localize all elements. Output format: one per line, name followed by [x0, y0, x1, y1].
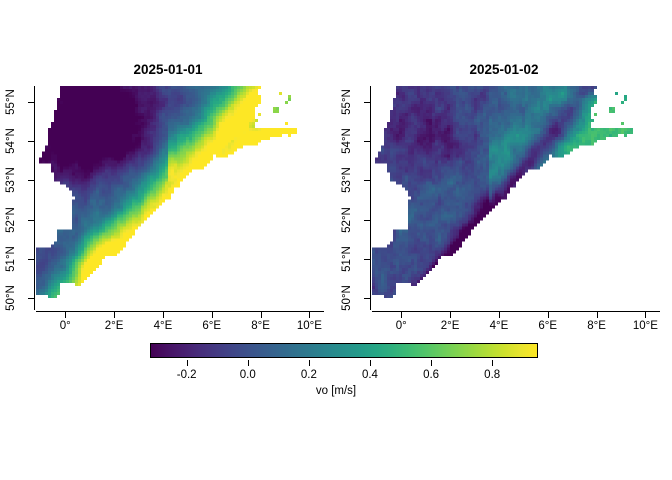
x-axis-right: [372, 311, 660, 312]
x-tick-right-1: [450, 312, 451, 318]
y-tick-label-right-2: 53°N: [332, 174, 362, 186]
colorbar-tick-5: [492, 360, 493, 366]
colorbar-tick-1: [248, 360, 249, 366]
y-tick-left-1: [28, 141, 34, 142]
y-tick-right-0: [364, 102, 370, 103]
colorbar-tick-label-1: 0.0: [240, 369, 256, 381]
x-tick-label-right-5: 10°E: [633, 320, 658, 332]
y-tick-left-4: [28, 259, 34, 260]
map-panel-right: 2025-01-02 55°N54°N53°N52°N51°N50°N0°2°E…: [336, 60, 672, 320]
y-axis-left: [34, 86, 35, 310]
x-tick-label-left-3: 6°E: [202, 320, 221, 332]
y-tick-label-left-1: 54°N: [0, 135, 26, 147]
y-tick-right-1: [364, 141, 370, 142]
y-tick-label-left-5: 50°N: [0, 292, 26, 304]
map-panel-left: 2025-01-01 55°N54°N53°N52°N51°N50°N0°2°E…: [0, 60, 336, 320]
x-axis-left: [36, 311, 324, 312]
x-tick-left-3: [212, 312, 213, 318]
colorbar-tick-label-3: 0.4: [362, 369, 378, 381]
x-tick-label-right-0: 0°: [396, 320, 407, 332]
heatmap-right: [372, 86, 660, 310]
y-tick-label-left-4: 51°N: [0, 253, 26, 265]
y-tick-label-right-0: 55°N: [332, 96, 362, 108]
x-tick-left-5: [309, 312, 310, 318]
panel-title-right: 2025-01-02: [336, 62, 672, 78]
y-tick-right-5: [364, 298, 370, 299]
x-tick-label-left-5: 10°E: [297, 320, 322, 332]
x-tick-right-2: [499, 312, 500, 318]
y-tick-right-3: [364, 220, 370, 221]
y-tick-label-right-4: 51°N: [332, 253, 362, 265]
x-tick-label-right-4: 8°E: [587, 320, 606, 332]
colorbar: -0.20.00.20.40.60.8 vo [m/s]: [0, 338, 672, 408]
y-tick-right-2: [364, 180, 370, 181]
y-tick-left-3: [28, 220, 34, 221]
x-tick-label-right-3: 6°E: [538, 320, 557, 332]
y-tick-left-5: [28, 298, 34, 299]
x-tick-right-0: [401, 312, 402, 318]
y-tick-left-2: [28, 180, 34, 181]
colorbar-tick-0: [187, 360, 188, 366]
y-tick-left-0: [28, 102, 34, 103]
y-tick-label-right-5: 50°N: [332, 292, 362, 304]
figure-canvas: 2025-01-01 55°N54°N53°N52°N51°N50°N0°2°E…: [0, 0, 672, 480]
colorbar-tick-label-2: 0.2: [301, 369, 317, 381]
colorbar-tick-label-4: 0.6: [423, 369, 439, 381]
x-tick-right-5: [645, 312, 646, 318]
y-tick-label-left-3: 52°N: [0, 214, 26, 226]
colorbar-tick-2: [309, 360, 310, 366]
x-tick-label-left-0: 0°: [60, 320, 71, 332]
plot-region-right: [372, 86, 660, 310]
x-tick-label-left-2: 4°E: [154, 320, 173, 332]
x-tick-left-2: [163, 312, 164, 318]
colorbar-gradient-fill: [151, 344, 537, 357]
panel-title-left: 2025-01-01: [0, 62, 336, 78]
colorbar-tick-3: [370, 360, 371, 366]
y-tick-label-left-2: 53°N: [0, 174, 26, 186]
colorbar-gradient: [150, 343, 538, 358]
y-tick-label-right-1: 54°N: [332, 135, 362, 147]
colorbar-tick-label-0: -0.2: [177, 369, 197, 381]
x-tick-label-right-2: 4°E: [490, 320, 509, 332]
x-tick-label-left-4: 8°E: [251, 320, 270, 332]
x-tick-label-left-1: 2°E: [105, 320, 124, 332]
y-axis-right: [370, 86, 371, 310]
x-tick-left-0: [65, 312, 66, 318]
heatmap-left: [36, 86, 324, 310]
y-tick-label-left-0: 55°N: [0, 96, 26, 108]
y-tick-label-right-3: 52°N: [332, 214, 362, 226]
x-tick-left-4: [261, 312, 262, 318]
x-tick-right-3: [548, 312, 549, 318]
colorbar-axis-label: vo [m/s]: [0, 385, 672, 397]
x-tick-left-1: [114, 312, 115, 318]
colorbar-tick-label-5: 0.8: [484, 369, 500, 381]
y-tick-right-4: [364, 259, 370, 260]
plot-region-left: [36, 86, 324, 310]
x-tick-label-right-1: 2°E: [441, 320, 460, 332]
x-tick-right-4: [597, 312, 598, 318]
colorbar-tick-4: [431, 360, 432, 366]
